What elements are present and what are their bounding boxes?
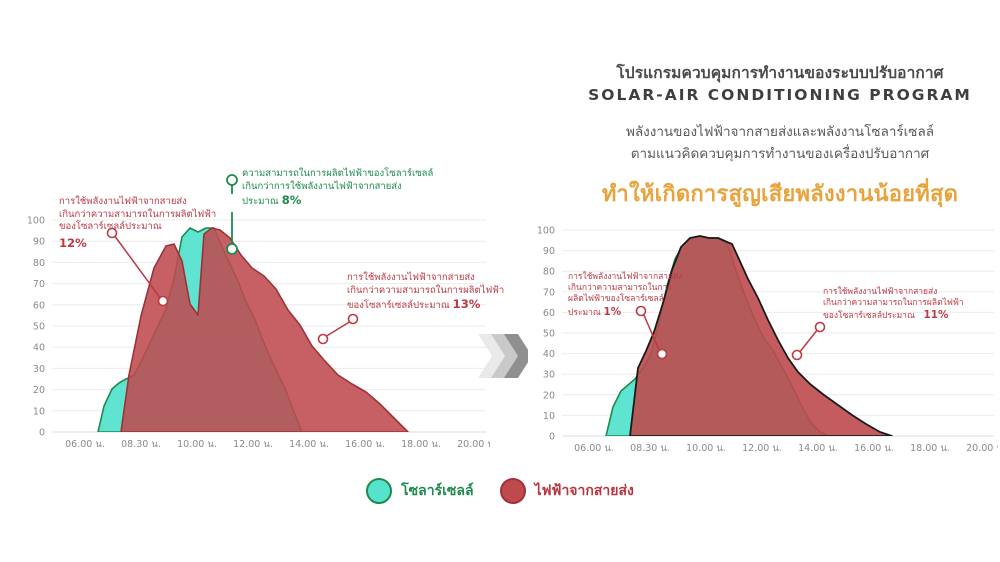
chart-before-xaxis-labels: 06.00 น. 08.30 น. 10.00 น. 12.00 น. 14.0… [65,439,490,450]
annotation-after-red-11-line1: การใช้พลังงานไฟฟ้าจากสายส่ง [823,287,964,298]
svg-text:0: 0 [39,428,45,439]
svg-text:14.00 น.: 14.00 น. [798,443,838,454]
header-block: โปรแกรมควบคุมการทำงานของระบบปรับอากาศ SO… [560,62,1000,211]
legend-item-grid: ไฟฟ้าจากสายส่ง [500,478,634,504]
svg-text:20.00 น.: 20.00 น. [966,443,998,454]
svg-text:50: 50 [33,322,45,333]
annotation-before-red-12-percent: 12% [59,236,216,251]
annotation-after-red-1-line4: ประมาณ 1% [568,306,682,320]
header-subtitle-line1: พลังงานของไฟฟ้าจากสายส่งและพลังงานโซลาร์… [560,122,1000,144]
svg-text:16.00 น.: 16.00 น. [345,439,385,450]
annotation-before-red-12-line1: การใช้พลังงานไฟฟ้าจากสายส่ง [59,196,216,209]
header-subtitle: พลังงานของไฟฟ้าจากสายส่งและพลังงานโซลาร์… [560,122,1000,165]
chart-after: 100 90 80 70 60 50 40 30 20 10 0 06.00 น… [518,224,998,462]
svg-text:70: 70 [33,279,45,290]
svg-text:50: 50 [543,329,555,340]
svg-text:0: 0 [549,432,555,443]
annotation-before-red-13-line3: ของโซลาร์เซลล์ประมาณ 13% [347,297,504,313]
svg-text:30: 30 [543,370,555,381]
annotation-after-red-1-line2: เกินกว่าความสามารถในการ [568,283,682,294]
svg-text:60: 60 [33,300,45,311]
infographic-root: โปรแกรมควบคุมการทำงานของระบบปรับอากาศ SO… [0,0,1000,562]
annotation-before-green-8-line3-text: ประมาณ [242,196,279,207]
svg-text:10.00 น.: 10.00 น. [686,443,726,454]
annotation-before-green-8-line3: ประมาณ 8% [242,193,433,209]
annotation-after-red-1-line4-text: ประมาณ [568,308,601,318]
annotation-before-red-12: การใช้พลังงานไฟฟ้าจากสายส่ง เกินกว่าความ… [59,196,216,251]
annotation-after-red-11-line3: ของโซลาร์เซลล์ประมาณ 11% [823,309,964,323]
legend: โซลาร์เซลล์ ไฟฟ้าจากสายส่ง [0,478,1000,504]
svg-text:80: 80 [543,267,555,278]
svg-text:08.30 น.: 08.30 น. [630,443,670,454]
header-highlight: ทำให้เกิดการสูญเสียพลังงานน้อยที่สุด [560,176,1000,211]
chart-before-series-grid [121,228,408,432]
annotation-after-red-1-line1: การใช้พลังงานไฟฟ้าจากสายส่ง [568,272,682,283]
header-title-english: SOLAR-AIR CONDITIONING PROGRAM [560,86,1000,104]
svg-text:14.00 น.: 14.00 น. [289,439,329,450]
annotation-before-green-8-line1: ความสามารถในการผลิตไฟฟ้าของโซลาร์เซลล์ [242,168,433,181]
svg-text:20: 20 [33,385,45,396]
chart-after-xaxis-labels: 06.00 น. 08.30 น. 10.00 น. 12.00 น. 14.0… [574,443,998,454]
svg-text:10: 10 [33,406,45,417]
header-subtitle-line2: ตามแนวคิดควบคุมการทำงานของเครื่องปรับอาก… [560,144,1000,166]
chart-before-leader-13 [319,315,358,344]
legend-label-solar: โซลาร์เซลล์ [401,480,473,502]
legend-label-grid: ไฟฟ้าจากสายส่ง [535,480,634,502]
annotation-after-red-1: การใช้พลังงานไฟฟ้าจากสายส่ง เกินกว่าความ… [568,272,682,319]
svg-text:06.00 น.: 06.00 น. [65,439,105,450]
svg-text:16.00 น.: 16.00 น. [854,443,894,454]
svg-text:40: 40 [543,349,555,360]
annotation-before-green-8: ความสามารถในการผลิตไฟฟ้าของโซลาร์เซลล์ เ… [242,168,433,209]
annotation-after-red-11: การใช้พลังงานไฟฟ้าจากสายส่ง เกินกว่าความ… [823,287,964,323]
svg-text:60: 60 [543,308,555,319]
annotation-after-red-1-percent: 1% [604,306,622,318]
svg-text:30: 30 [33,364,45,375]
svg-text:18.00 น.: 18.00 น. [910,443,950,454]
svg-text:06.00 น.: 06.00 น. [574,443,614,454]
svg-text:90: 90 [33,237,45,248]
header-title-thai: โปรแกรมควบคุมการทำงานของระบบปรับอากาศ [560,62,1000,84]
legend-swatch-solar-icon [366,478,392,504]
legend-swatch-grid-icon [500,478,526,504]
svg-text:12.00 น.: 12.00 น. [742,443,782,454]
svg-text:10.00 น.: 10.00 น. [177,439,217,450]
annotation-before-green-8-line2: เกินกว่าการใช้พลังงานไฟฟ้าจากสายส่ง [242,181,433,194]
annotation-before-red-13: การใช้พลังงานไฟฟ้าจากสายส่ง เกินกว่าความ… [347,272,504,313]
svg-text:70: 70 [543,287,555,298]
annotation-before-red-13-line2: เกินกว่าความสามารถในการผลิตไฟฟ้า [347,285,504,298]
svg-text:100: 100 [537,226,555,237]
annotation-after-red-11-percent: 11% [924,309,949,321]
svg-text:80: 80 [33,258,45,269]
annotation-after-red-11-line2: เกินกว่าความสามารถในการผลิตไฟฟ้า [823,298,964,309]
svg-text:20.00 น.: 20.00 น. [457,439,490,450]
annotation-before-red-12-line3: ของโซลาร์เซลล์ประมาณ [59,221,216,234]
annotation-before-red-12-line2: เกินกว่าความสามารถในการผลิตไฟฟ้า [59,209,216,222]
annotation-after-red-11-line3-text: ของโซลาร์เซลล์ประมาณ [823,311,915,321]
svg-text:40: 40 [33,343,45,354]
annotation-before-red-13-line1: การใช้พลังงานไฟฟ้าจากสายส่ง [347,272,504,285]
annotation-before-green-8-percent: 8% [282,193,302,207]
annotation-after-red-1-line3: ผลิตไฟฟ้าของโซลาร์เซลล์ [568,294,682,305]
svg-text:12.00 น.: 12.00 น. [233,439,273,450]
chart-before-leader-8 [227,212,237,254]
annotation-before-red-13-percent: 13% [453,297,481,311]
chart-after-series-grid [630,236,892,436]
svg-text:10: 10 [543,411,555,422]
chart-before-yaxis-labels: 100 90 80 70 60 50 40 30 20 10 0 [27,216,45,439]
svg-text:20: 20 [543,390,555,401]
chart-after-svg: 100 90 80 70 60 50 40 30 20 10 0 06.00 น… [518,224,998,462]
svg-text:100: 100 [27,216,45,227]
svg-text:90: 90 [543,246,555,257]
chart-after-yaxis-labels: 100 90 80 70 60 50 40 30 20 10 0 [537,226,555,443]
svg-text:08.30 น.: 08.30 น. [121,439,161,450]
legend-item-solar: โซลาร์เซลล์ [366,478,473,504]
svg-text:18.00 น.: 18.00 น. [401,439,441,450]
annotation-before-red-13-line3-text: ของโซลาร์เซลล์ประมาณ [347,300,450,311]
